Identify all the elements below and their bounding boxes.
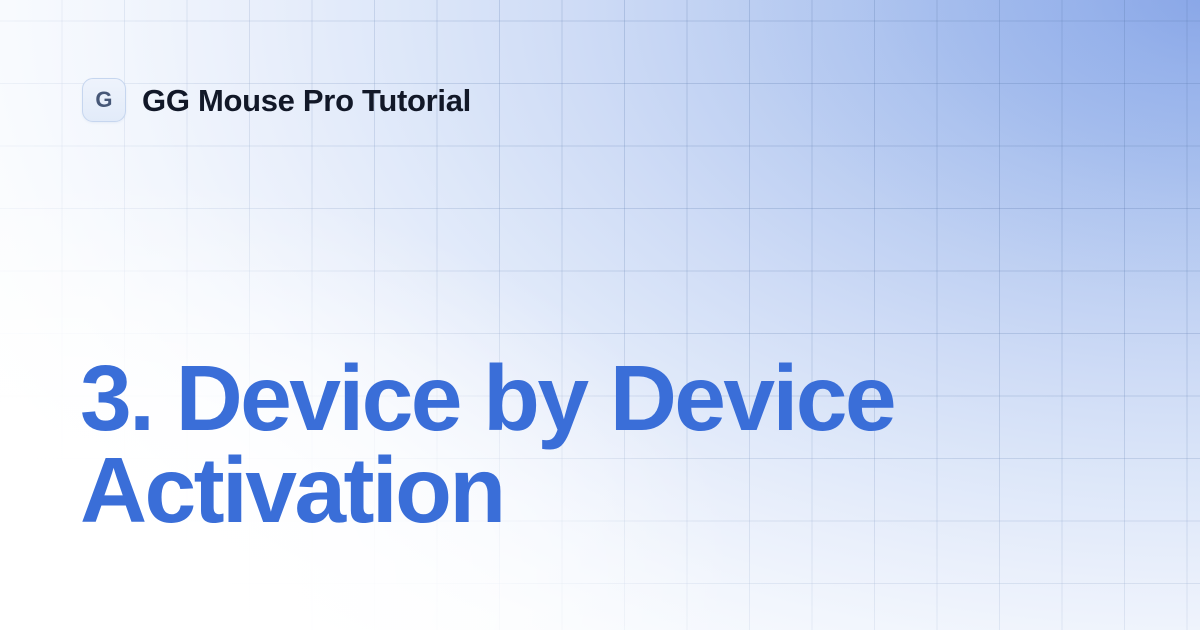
page-title: 3. Device by Device Activation: [80, 352, 1060, 536]
gg-logo-badge-icon: G: [82, 78, 126, 122]
brand-bar: G GG Mouse Pro Tutorial: [82, 78, 471, 122]
gg-logo-badge-letter: G: [95, 89, 112, 111]
tutorial-title-slide: G GG Mouse Pro Tutorial 3. Device by Dev…: [0, 0, 1200, 630]
page-title-line-2: Activation: [80, 444, 1060, 536]
page-title-line-1: 3. Device by Device: [80, 352, 1060, 444]
slide-content: G GG Mouse Pro Tutorial 3. Device by Dev…: [0, 0, 1200, 630]
brand-title: GG Mouse Pro Tutorial: [142, 85, 471, 116]
